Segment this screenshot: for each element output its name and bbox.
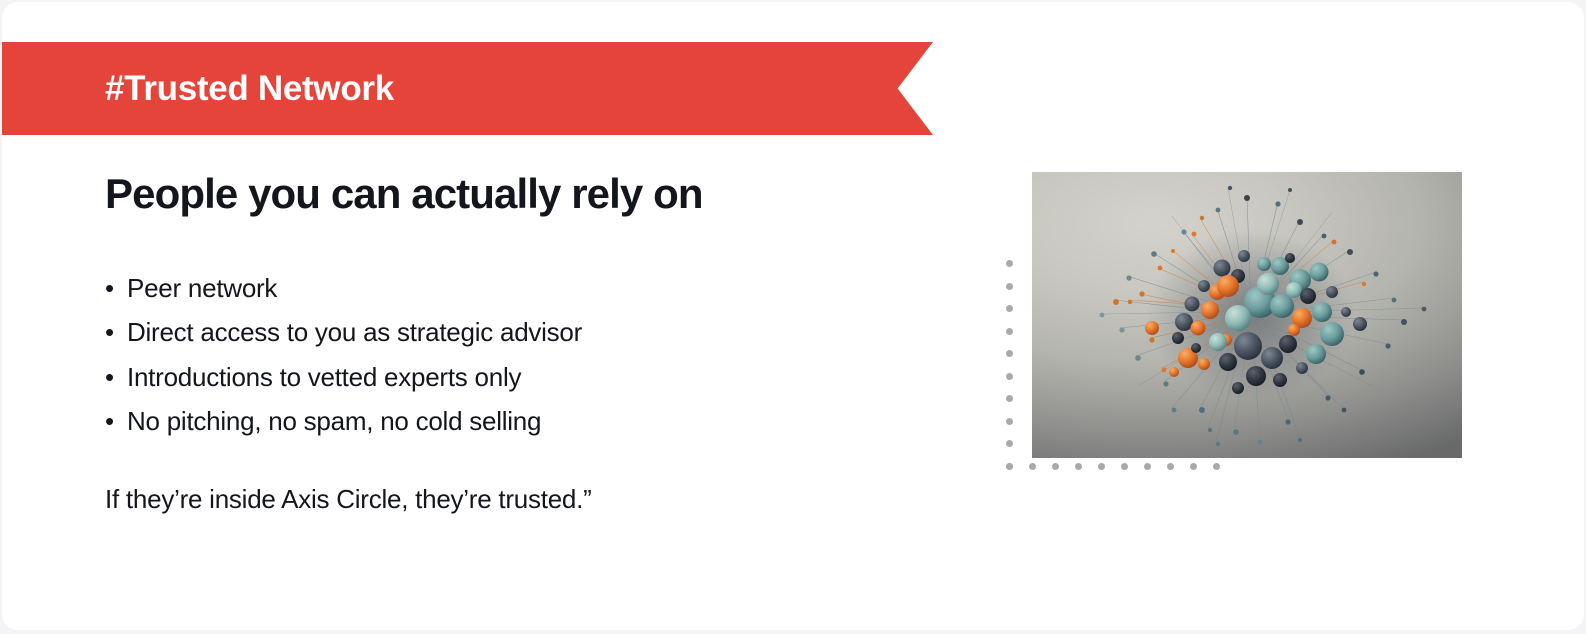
decorative-dot [1121,463,1128,470]
list-item: •Direct access to you as strategic advis… [105,310,915,354]
benefits-list: •Peer network •Direct access to you as s… [105,266,915,443]
bullet-marker-icon: • [105,310,127,354]
network-cluster-image [1032,172,1462,458]
decorative-dot [1029,463,1036,470]
decorative-dot [1006,305,1013,312]
bullet-marker-icon: • [105,355,127,399]
list-item: •Peer network [105,266,915,310]
page-title: People you can actually rely on [105,170,915,218]
decorative-dot [1213,463,1220,470]
decorative-dot [1006,440,1013,447]
decorative-dot [1052,463,1059,470]
decorative-dot [1006,418,1013,425]
bullet-marker-icon: • [105,266,127,310]
list-item-label: Introductions to vetted experts only [127,362,521,392]
list-item-label: Peer network [127,273,277,303]
decorative-dot [1006,463,1013,470]
decorative-dot-row [1006,463,1220,470]
decorative-dot [1006,373,1013,380]
media-block [1032,172,1462,458]
list-item-label: No pitching, no spam, no cold selling [127,406,541,436]
bullet-marker-icon: • [105,399,127,443]
decorative-dot [1006,350,1013,357]
decorative-dot [1098,463,1105,470]
closing-quote: If they’re inside Axis Circle, they’re t… [105,481,915,517]
list-item-label: Direct access to you as strategic adviso… [127,317,582,347]
decorative-dot [1190,463,1197,470]
content-left-column: People you can actually rely on •Peer ne… [105,170,915,517]
decorative-dot [1144,463,1151,470]
ribbon-banner: #Trusted Network [2,42,933,135]
ribbon-title: #Trusted Network [2,71,394,106]
slide-root: #Trusted Network People you can actually… [0,0,1586,634]
decorative-dot [1006,395,1013,402]
list-item: •No pitching, no spam, no cold selling [105,399,915,443]
list-item: •Introductions to vetted experts only [105,355,915,399]
decorative-dot [1006,283,1013,290]
decorative-dot [1075,463,1082,470]
decorative-dot [1167,463,1174,470]
decorative-dot-column [1006,260,1013,470]
decorative-dot [1006,328,1013,335]
decorative-dot [1006,260,1013,267]
slide-card: #Trusted Network People you can actually… [2,2,1584,630]
